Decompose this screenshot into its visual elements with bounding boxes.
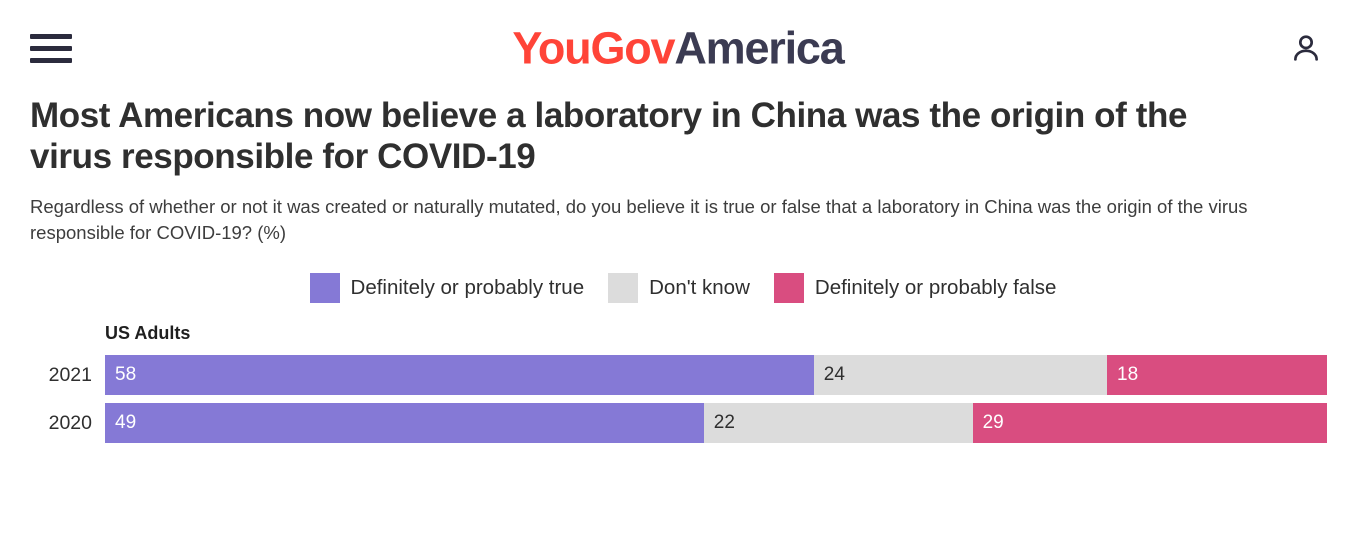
bar-row-label-2020: 2020 — [0, 412, 92, 435]
chart-legend: Definitely or probably true Don't know D… — [0, 273, 1356, 303]
person-account-icon[interactable] — [1284, 26, 1328, 70]
legend-swatch-dont-know — [608, 273, 638, 303]
legend-label-dont-know: Don't know — [649, 276, 750, 300]
hamburger-bar-3 — [30, 58, 72, 63]
site-logo[interactable]: YouGovAmerica — [512, 26, 843, 71]
bar-track: 492229 — [105, 403, 1327, 443]
bar-segment-2021-s0[interactable]: 58 — [105, 355, 814, 395]
legend-item-false[interactable]: Definitely or probably false — [774, 273, 1057, 303]
hamburger-bar-1 — [30, 34, 72, 39]
bar-segment-2021-s2[interactable]: 18 — [1107, 355, 1327, 395]
bar-row: 2020492229 — [0, 403, 1356, 443]
legend-label-true: Definitely or probably true — [351, 276, 585, 300]
hamburger-menu-icon[interactable] — [30, 28, 74, 68]
chart-rows: 20215824182020492229 — [0, 355, 1356, 451]
logo-text-yougov: YouGov — [512, 23, 674, 74]
bar-row: 2021582418 — [0, 355, 1356, 395]
legend-label-false: Definitely or probably false — [815, 276, 1057, 300]
site-header: YouGovAmerica — [0, 0, 1356, 96]
legend-item-dont-know[interactable]: Don't know — [608, 273, 750, 303]
bar-track: 582418 — [105, 355, 1327, 395]
yougov-article-page: YouGovAmerica Most Americans now believe… — [0, 0, 1356, 546]
question-subtitle: Regardless of whether or not it was crea… — [30, 194, 1320, 245]
page-title: Most Americans now believe a laboratory … — [30, 96, 1270, 177]
hamburger-bar-2 — [30, 46, 72, 51]
bar-segment-2021-s1[interactable]: 24 — [814, 355, 1107, 395]
bar-segment-2020-s1[interactable]: 22 — [704, 403, 973, 443]
legend-swatch-false — [774, 273, 804, 303]
bar-segment-2020-s2[interactable]: 29 — [973, 403, 1327, 443]
logo-text-america: America — [674, 23, 843, 74]
chart-group-title: US Adults — [105, 323, 190, 344]
legend-item-true[interactable]: Definitely or probably true — [310, 273, 585, 303]
bar-segment-2020-s0[interactable]: 49 — [105, 403, 704, 443]
legend-swatch-true — [310, 273, 340, 303]
bar-row-label-2021: 2021 — [0, 364, 92, 387]
